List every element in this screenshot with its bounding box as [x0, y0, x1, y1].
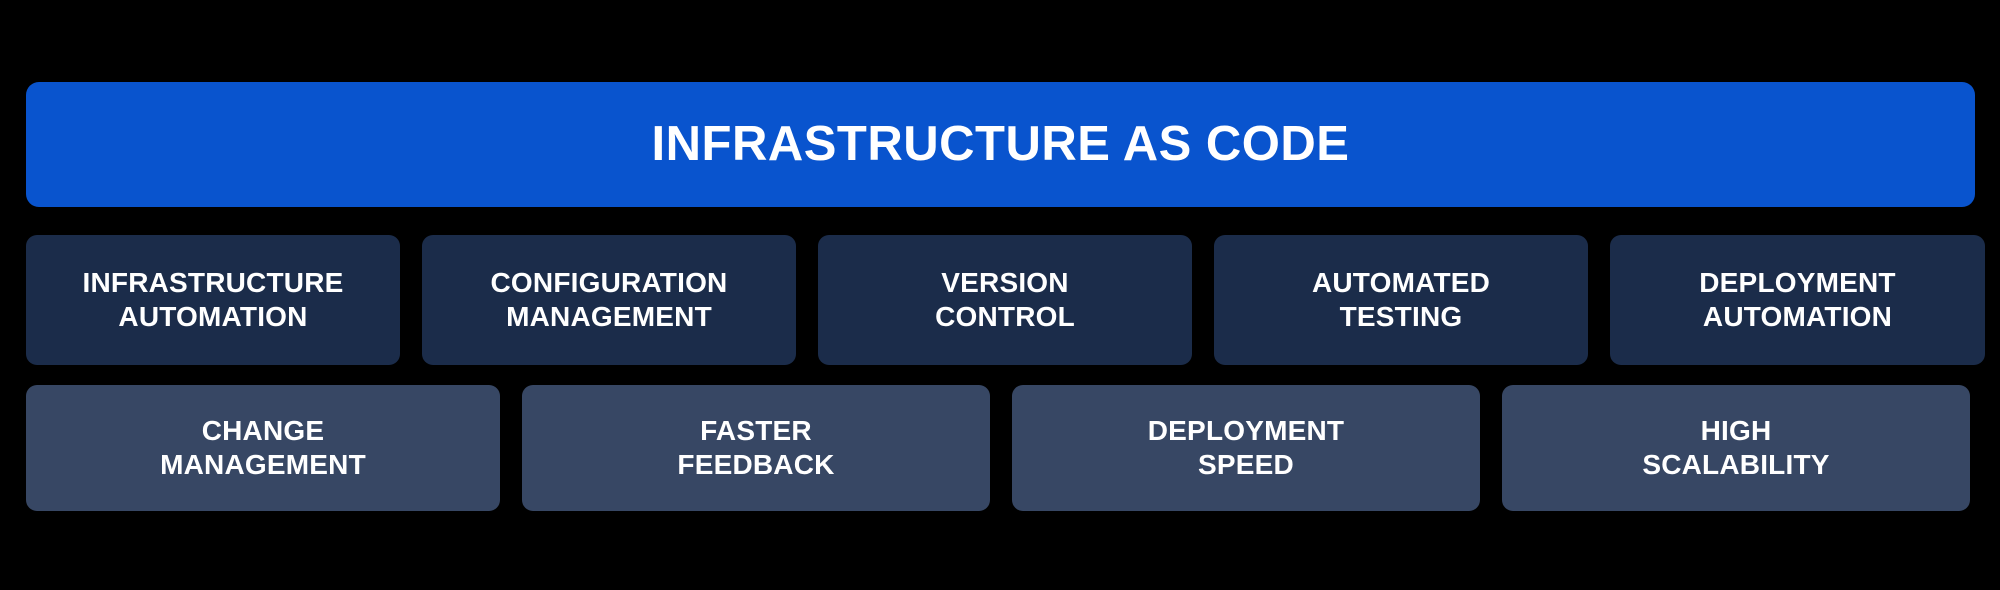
card-label: CHANGE MANAGEMENT — [160, 414, 366, 482]
card-label-line2: FEEDBACK — [677, 449, 834, 480]
card-label-line2: SCALABILITY — [1642, 449, 1829, 480]
card-label: DEPLOYMENT SPEED — [1148, 414, 1344, 482]
card-label-line1: CONFIGURATION — [491, 267, 728, 298]
benefits-row: CHANGE MANAGEMENT FASTER FEEDBACK DEPLOY… — [26, 385, 1970, 511]
card-label-line1: DEPLOYMENT — [1148, 415, 1344, 446]
card-deployment-speed[interactable]: DEPLOYMENT SPEED — [1012, 385, 1480, 511]
card-label-line2: AUTOMATION — [118, 301, 307, 332]
card-configuration-management[interactable]: CONFIGURATION MANAGEMENT — [422, 235, 796, 365]
card-faster-feedback[interactable]: FASTER FEEDBACK — [522, 385, 990, 511]
card-label-line1: VERSION — [941, 267, 1068, 298]
card-label: HIGH SCALABILITY — [1642, 414, 1829, 482]
card-high-scalability[interactable]: HIGH SCALABILITY — [1502, 385, 1970, 511]
card-label-line2: AUTOMATION — [1703, 301, 1892, 332]
card-infrastructure-automation[interactable]: INFRASTRUCTURE AUTOMATION — [26, 235, 400, 365]
card-label-line1: FASTER — [700, 415, 812, 446]
diagram-canvas: INFRASTRUCTURE AS CODE INFRASTRUCTURE AU… — [0, 0, 2000, 590]
card-label-line1: INFRASTRUCTURE — [82, 267, 343, 298]
card-change-management[interactable]: CHANGE MANAGEMENT — [26, 385, 500, 511]
card-label-line2: SPEED — [1198, 449, 1294, 480]
card-label-line1: CHANGE — [202, 415, 325, 446]
card-label: FASTER FEEDBACK — [677, 414, 834, 482]
card-label: AUTOMATED TESTING — [1312, 266, 1490, 334]
card-label: INFRASTRUCTURE AUTOMATION — [82, 266, 343, 334]
card-label: DEPLOYMENT AUTOMATION — [1699, 266, 1895, 334]
card-label-line2: CONTROL — [935, 301, 1075, 332]
card-label-line2: MANAGEMENT — [506, 301, 712, 332]
card-label-line2: MANAGEMENT — [160, 449, 366, 480]
header-banner: INFRASTRUCTURE AS CODE — [26, 82, 1975, 207]
card-label-line1: HIGH — [1701, 415, 1772, 446]
card-automated-testing[interactable]: AUTOMATED TESTING — [1214, 235, 1588, 365]
card-version-control[interactable]: VERSION CONTROL — [818, 235, 1192, 365]
card-deployment-automation[interactable]: DEPLOYMENT AUTOMATION — [1610, 235, 1985, 365]
card-label-line2: TESTING — [1340, 301, 1463, 332]
card-label-line1: AUTOMATED — [1312, 267, 1490, 298]
page-title: INFRASTRUCTURE AS CODE — [652, 120, 1350, 169]
card-label: CONFIGURATION MANAGEMENT — [491, 266, 728, 334]
card-label-line1: DEPLOYMENT — [1699, 267, 1895, 298]
card-label: VERSION CONTROL — [935, 266, 1075, 334]
components-row: INFRASTRUCTURE AUTOMATION CONFIGURATION … — [26, 235, 1975, 365]
